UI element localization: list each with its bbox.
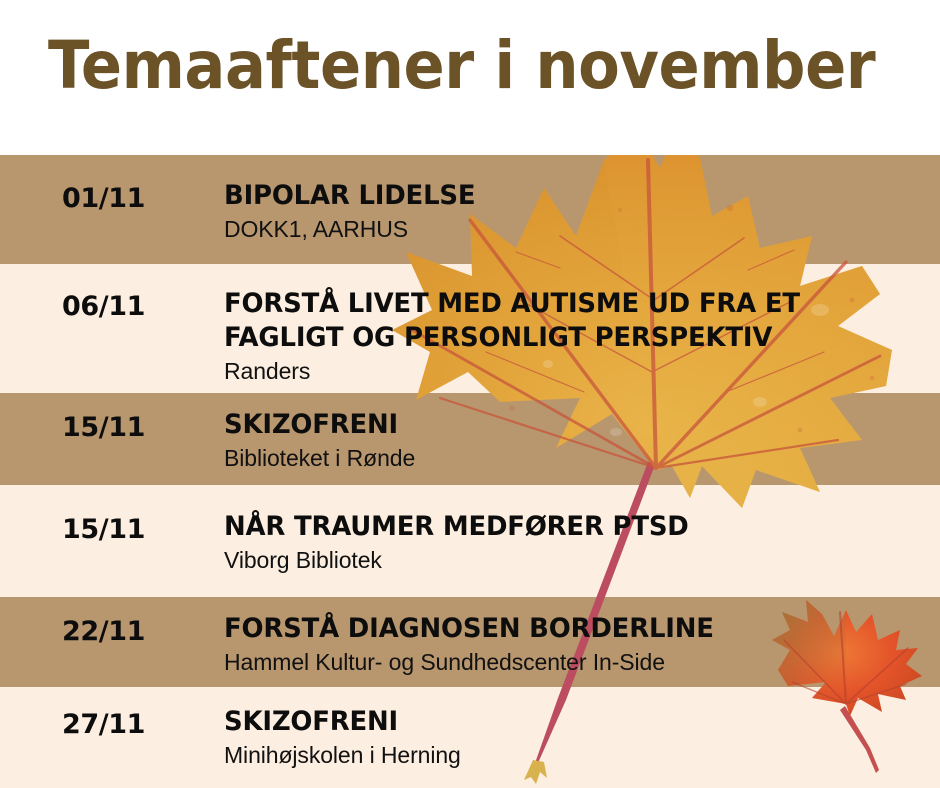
event-row[interactable]: 15/11 SKIZOFRENI Biblioteket i Rønde — [0, 393, 940, 485]
event-details: FORSTÅ DIAGNOSEN BORDERLINE Hammel Kultu… — [224, 612, 930, 677]
event-venue: Viborg Bibliotek — [224, 545, 930, 575]
event-details: NÅR TRAUMER MEDFØRER PTSD Viborg Bibliot… — [224, 510, 930, 575]
event-title: BIPOLAR LIDELSE — [224, 179, 902, 213]
event-details: BIPOLAR LIDELSE DOKK1, AARHUS — [224, 179, 930, 244]
event-venue: Biblioteket i Rønde — [224, 443, 930, 473]
event-row[interactable]: 27/11 SKIZOFRENI Minihøjskolen i Herning — [0, 687, 940, 788]
event-venue: DOKK1, AARHUS — [224, 214, 930, 244]
event-details: SKIZOFRENI Biblioteket i Rønde — [224, 408, 930, 473]
event-date: 15/11 — [62, 413, 145, 443]
event-venue: Minihøjskolen i Herning — [224, 740, 930, 770]
event-date: 15/11 — [62, 515, 145, 545]
poster-header: Temaaftener i november — [0, 0, 940, 155]
event-date: 01/11 — [62, 184, 145, 214]
event-details: FORSTÅ LIVET MED AUTISME UD FRA ET FAGLI… — [224, 287, 930, 386]
event-title: SKIZOFRENI — [224, 705, 902, 739]
event-title: FORSTÅ LIVET MED AUTISME UD FRA ET FAGLI… — [224, 287, 902, 355]
page-title: Temaaftener i november — [48, 27, 875, 105]
event-date: 27/11 — [62, 710, 145, 740]
event-title: FORSTÅ DIAGNOSEN BORDERLINE — [224, 612, 902, 646]
event-details: SKIZOFRENI Minihøjskolen i Herning — [224, 705, 930, 770]
event-date: 22/11 — [62, 617, 145, 647]
event-venue: Hammel Kultur- og Sundhedscenter In-Side — [224, 647, 930, 677]
event-venue: Randers — [224, 356, 930, 386]
event-poster: Temaaftener i november 01/11 BIPOLAR LID… — [0, 0, 940, 788]
event-row[interactable]: 15/11 NÅR TRAUMER MEDFØRER PTSD Viborg B… — [0, 485, 940, 597]
event-row[interactable]: 06/11 FORSTÅ LIVET MED AUTISME UD FRA ET… — [0, 264, 940, 393]
event-row[interactable]: 01/11 BIPOLAR LIDELSE DOKK1, AARHUS — [0, 155, 940, 264]
event-title: NÅR TRAUMER MEDFØRER PTSD — [224, 510, 902, 544]
event-title: SKIZOFRENI — [224, 408, 902, 442]
event-row[interactable]: 22/11 FORSTÅ DIAGNOSEN BORDERLINE Hammel… — [0, 597, 940, 687]
event-date: 06/11 — [62, 292, 145, 322]
